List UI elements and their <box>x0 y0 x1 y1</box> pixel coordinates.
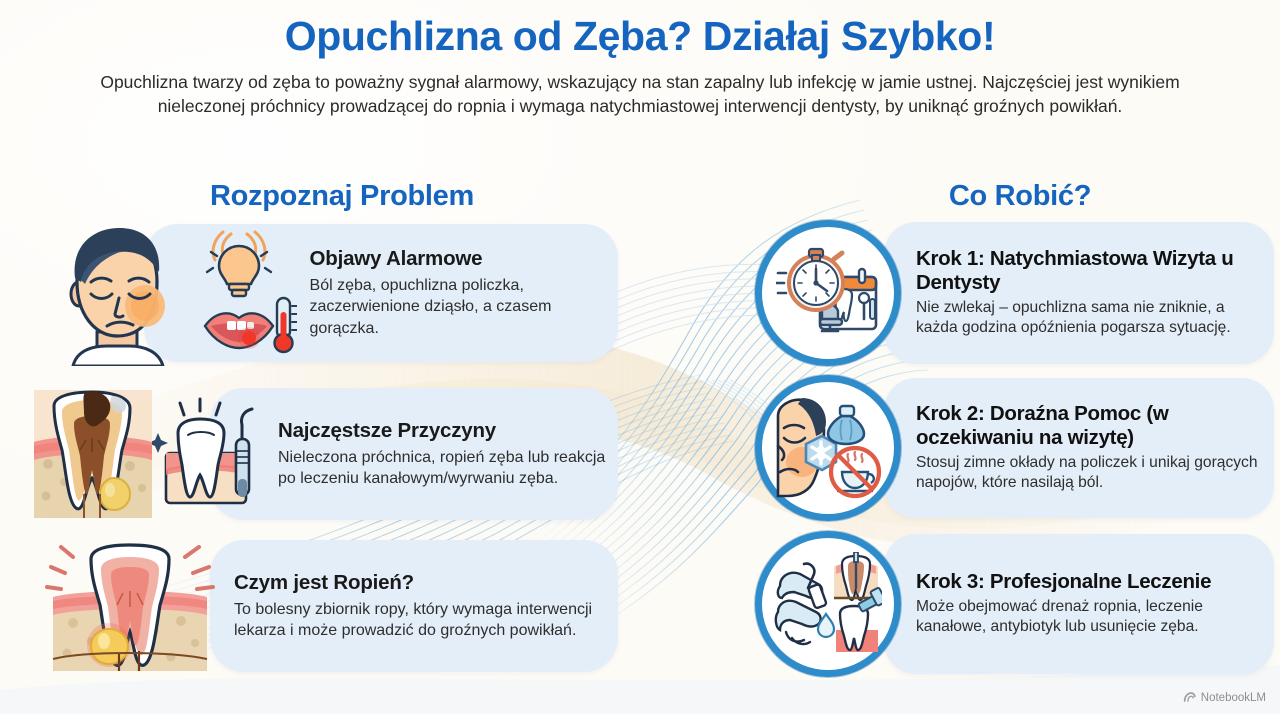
step-text: Krok 3: Profesjonalne Leczenie Może obej… <box>894 570 1268 638</box>
card-text: Najczęstsze Przyczyny Nieleczona próchni… <box>264 419 618 489</box>
action-step-1[interactable]: Krok 1: Natychmiastowa Wizyta u Dentysty… <box>762 222 1274 364</box>
step-title: Krok 3: Profesjonalne Leczenie <box>916 570 1268 594</box>
header: Opuchlizna od Zęba? Działaj Szybko! Opuc… <box>0 14 1280 118</box>
step-body: Stosuj zimne okłady na policzek i unikaj… <box>916 453 1268 494</box>
lightbulb-icon <box>207 232 271 296</box>
action-step-3[interactable]: Krok 3: Profesjonalne Leczenie Może obej… <box>762 534 1274 674</box>
step-text: Krok 1: Natychmiastowa Wizyta u Dentysty… <box>894 247 1268 339</box>
card-text: Objawy Alarmowe Ból zęba, opuchlizna pol… <box>300 247 618 339</box>
step-title: Krok 1: Natychmiastowa Wizyta u Dentysty <box>916 247 1268 295</box>
symptom-icon-group <box>198 224 300 362</box>
card-body: Nieleczona próchnica, ropień zęba lub re… <box>278 447 618 490</box>
step-text: Krok 2: Doraźna Pomoc (w oczekiwaniu na … <box>894 402 1268 494</box>
right-column-heading: Co Robić? <box>760 180 1280 213</box>
card-text: Czym jest Ropień? To bolesny zbiornik ro… <box>234 571 614 641</box>
notebooklm-logo-icon <box>1183 691 1196 704</box>
swollen-face-illustration <box>34 224 198 362</box>
step-body: Może obejmować drenaż ropnia, leczenie k… <box>916 597 1268 638</box>
lips-toothache-icon <box>205 313 273 349</box>
left-column-heading: Rozpoznaj Problem <box>42 180 642 213</box>
step-icon-circle <box>762 227 894 359</box>
page-title: Opuchlizna od Zęba? Działaj Szybko! <box>0 14 1280 60</box>
dental-treatment-gloves-icon <box>774 552 882 656</box>
step-title: Krok 2: Doraźna Pomoc (w oczekiwaniu na … <box>916 402 1268 450</box>
watermark: NotebookLM <box>1183 691 1266 704</box>
step-body: Nie zwlekaj – opuchlizna sama nie znikni… <box>916 298 1268 339</box>
cold-compress-no-hot-drinks-icon <box>774 396 882 500</box>
tooth-abscess-icon <box>34 540 234 672</box>
healthy-tooth-with-probe-icon <box>152 388 264 520</box>
card-body: Ból zęba, opuchlizna policzka, zaczerwie… <box>310 275 618 339</box>
problem-card-causes[interactable]: Najczęstsze Przyczyny Nieleczona próchni… <box>34 388 618 520</box>
decayed-tooth-cross-section-icon <box>34 388 152 520</box>
stopwatch-dental-chair-icon <box>776 243 880 343</box>
step-icon-circle <box>762 382 894 514</box>
step-icon-circle <box>762 538 894 670</box>
card-title: Czym jest Ropień? <box>234 571 614 595</box>
watermark-label: NotebookLM <box>1201 692 1266 704</box>
thermometer-icon <box>274 298 297 352</box>
card-title: Objawy Alarmowe <box>310 247 618 271</box>
problem-card-abscess[interactable]: Czym jest Ropień? To bolesny zbiornik ro… <box>34 540 618 672</box>
card-body: To bolesny zbiornik ropy, który wymaga i… <box>234 599 614 642</box>
page-subtitle: Opuchlizna twarzy od zęba to poważny syg… <box>75 70 1205 118</box>
action-step-2[interactable]: Krok 2: Doraźna Pomoc (w oczekiwaniu na … <box>762 378 1274 518</box>
card-title: Najczęstsze Przyczyny <box>278 419 618 443</box>
problem-card-symptoms[interactable]: Objawy Alarmowe Ból zęba, opuchlizna pol… <box>34 224 618 362</box>
